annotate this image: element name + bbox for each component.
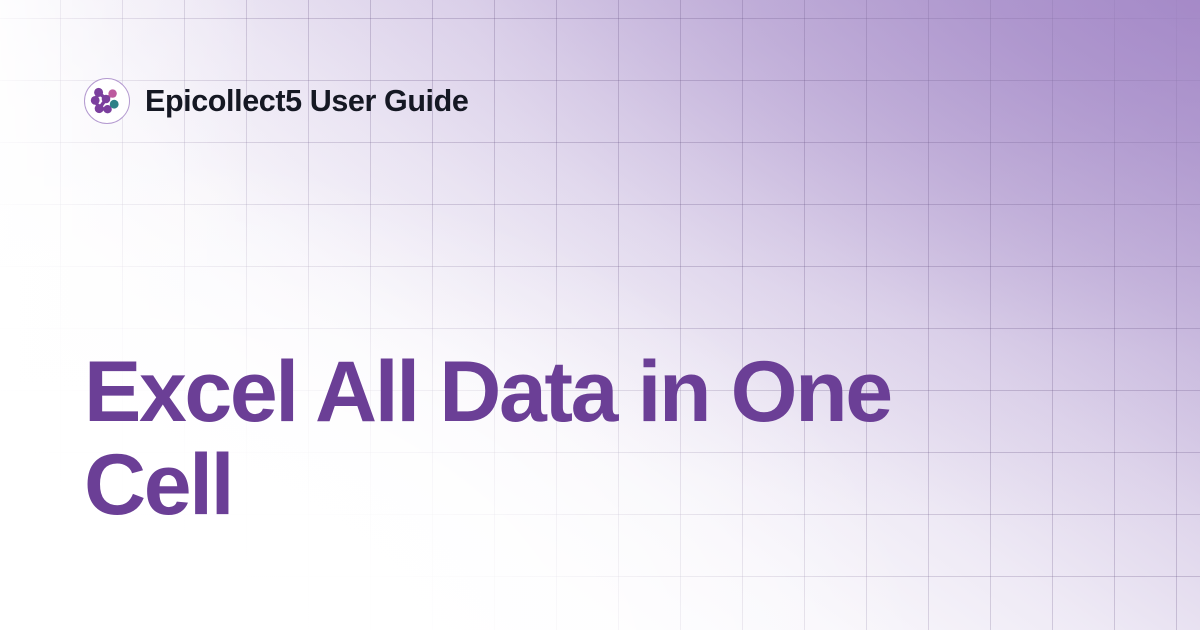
epicollect5-molecule-logo-icon xyxy=(89,83,125,119)
page-title: Excel All Data in One Cell xyxy=(84,346,1044,532)
site-header: Epicollect5 User Guide xyxy=(84,78,468,124)
og-card: Epicollect5 User Guide Excel All Data in… xyxy=(0,0,1200,630)
site-title: Epicollect5 User Guide xyxy=(145,86,468,117)
logo-badge xyxy=(84,78,130,124)
